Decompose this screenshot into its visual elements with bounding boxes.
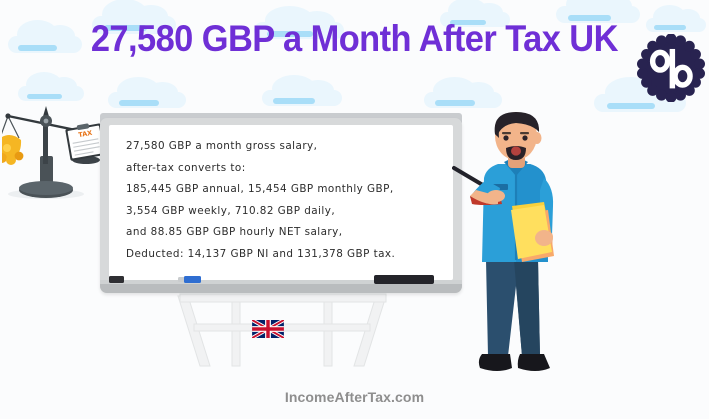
whiteboard: 27,580 GBP a month gross salary, after-t…	[100, 118, 462, 293]
cloud-decoration	[556, 6, 640, 23]
cloud-shade	[18, 45, 56, 51]
cloud-decoration	[254, 22, 344, 39]
balance-scale: TAX	[2, 104, 106, 200]
whiteboard-line-2: after-tax converts to:	[126, 158, 443, 180]
cloud-decoration	[646, 18, 706, 32]
blue-marker-icon	[184, 276, 201, 283]
cloud-decoration	[108, 92, 186, 108]
percent-badge-icon	[637, 34, 705, 102]
cloud-decoration	[440, 12, 510, 27]
cloud-decoration	[18, 86, 84, 101]
cloud-shade	[119, 100, 160, 105]
site-name: IncomeAfterTax.com	[285, 389, 424, 405]
whiteboard-line-1: 27,580 GBP a month gross salary,	[126, 136, 443, 158]
union-jack-flag	[252, 320, 284, 338]
cloud-decoration	[92, 16, 176, 34]
whiteboard-line-6: Deducted: 14,137 GBP NI and 131,378 GBP …	[126, 244, 443, 266]
cloud-shade	[104, 25, 148, 31]
cloud-decoration	[424, 92, 502, 108]
cloud-shade	[27, 94, 61, 99]
cloud-shade	[450, 20, 486, 25]
cloud-decoration	[262, 90, 342, 106]
infographic-canvas: 27,580 GBP a Month After Tax UK	[0, 0, 709, 419]
whiteboard-line-5: and 88.85 GBP GBP hourly NET salary,	[126, 222, 443, 244]
presenter-teacher	[452, 110, 582, 395]
cloud-shade	[607, 103, 655, 109]
whiteboard-marker-tray	[100, 280, 462, 293]
cloud-shade	[273, 98, 315, 103]
cloud-shade	[568, 15, 612, 21]
whiteboard-text-block: 27,580 GBP a month gross salary, after-t…	[126, 136, 443, 265]
eraser-icon	[374, 275, 434, 284]
footer: IncomeAfterTax.com	[0, 389, 709, 407]
cloud-shade	[267, 31, 314, 37]
whiteboard-line-4: 3,554 GBP weekly, 710.82 GBP daily,	[126, 201, 443, 223]
whiteboard-surface: 27,580 GBP a month gross salary, after-t…	[109, 125, 453, 280]
black-marker-icon	[109, 276, 124, 283]
cloud-decoration	[8, 36, 82, 53]
cloud-shade	[435, 100, 476, 105]
cloud-shade	[654, 25, 685, 30]
gold-coins	[2, 135, 23, 165]
whiteboard-line-3: 185,445 GBP annual, 15,454 GBP monthly G…	[126, 179, 443, 201]
